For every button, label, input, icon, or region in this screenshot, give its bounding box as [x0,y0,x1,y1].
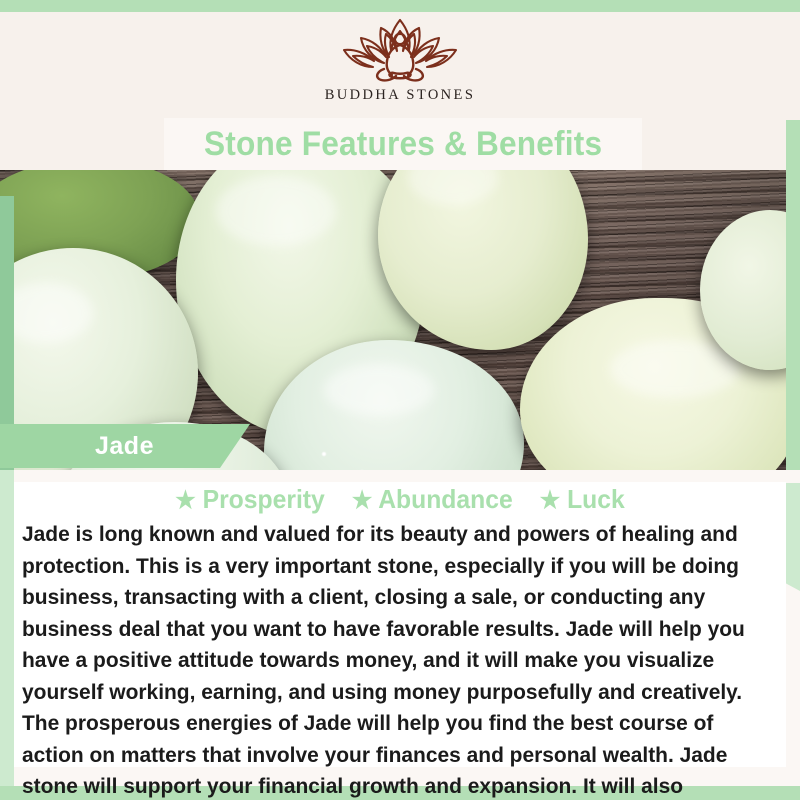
title-banner: Stone Features & Benefits [164,118,642,170]
stone-name-label: Jade [95,432,154,461]
lotus-meditation-icon [334,14,466,86]
benefit-label-prosperity: Prosperity [203,484,325,514]
page-title: Stone Features & Benefits [204,127,602,161]
poster-canvas: Jade ★ Prosperity ★ Abundance ★ Luck Jad… [0,0,800,800]
star-icon-3: ★ [540,487,560,514]
brand-name: BUDDHA STONES [325,87,476,104]
benefit-label-abundance: Abundance [378,484,512,514]
panel-left-accent-strip [0,470,14,786]
stone-name-badge: Jade [0,424,250,468]
benefit-label-luck: Luck [567,484,625,514]
frame-top-band [0,0,800,12]
description-card: ★ Prosperity ★ Abundance ★ Luck Jade is … [14,482,786,767]
description-panel: ★ Prosperity ★ Abundance ★ Luck Jade is … [0,470,800,786]
page-header: BUDDHA STONES [0,12,800,120]
benefits-list: ★ Prosperity ★ Abundance ★ Luck [33,482,766,518]
star-icon-1: ★ [175,487,195,514]
description-text: Jade is long known and valued for its be… [22,518,759,800]
star-icon-2: ★ [352,487,372,514]
